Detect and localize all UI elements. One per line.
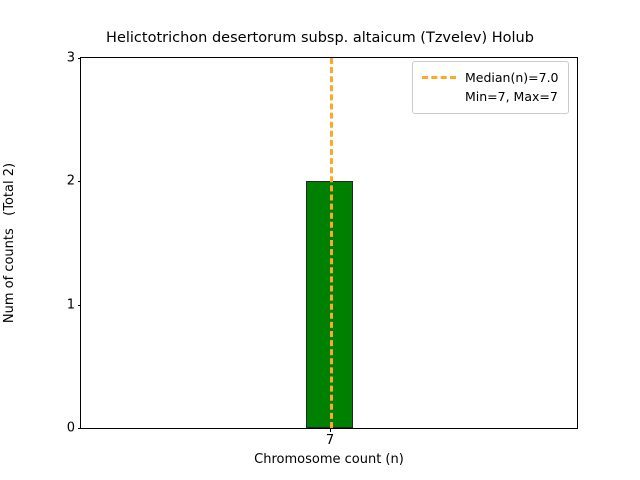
y-tick-label: 1 xyxy=(67,298,75,311)
y-tick-mark xyxy=(78,58,82,59)
y-tick-label: 2 xyxy=(67,175,75,188)
x-tick-label: 7 xyxy=(326,434,334,448)
y-tick-label: 0 xyxy=(67,422,75,435)
legend-label: Median(n)=7.0 xyxy=(465,68,559,87)
x-tick-mark xyxy=(330,428,331,432)
y-tick-label: 3 xyxy=(67,52,75,65)
dashed-line-icon xyxy=(422,76,456,79)
legend-entry-minmax: Min=7, Max=7 xyxy=(422,87,559,106)
chart-title: Helictotrichon desertorum subsp. altaicu… xyxy=(0,29,640,47)
plot-area: 0 1 2 3 7 Median(n)=7.0 Min=7, xyxy=(80,57,578,429)
x-axis-label: Chromosome count (n) xyxy=(80,452,578,468)
legend: Median(n)=7.0 Min=7, Max=7 xyxy=(412,61,569,114)
legend-label: Min=7, Max=7 xyxy=(465,87,558,106)
y-tick-mark xyxy=(78,428,82,429)
y-axis-label: Num of counts (Total 2) xyxy=(0,57,20,429)
y-tick-mark xyxy=(78,305,82,306)
y-tick-mark xyxy=(78,181,82,182)
median-line xyxy=(330,58,333,428)
legend-entry-median: Median(n)=7.0 xyxy=(422,68,559,87)
chart-figure: Helictotrichon desertorum subsp. altaicu… xyxy=(0,0,640,480)
blank-marker-icon xyxy=(422,95,456,98)
